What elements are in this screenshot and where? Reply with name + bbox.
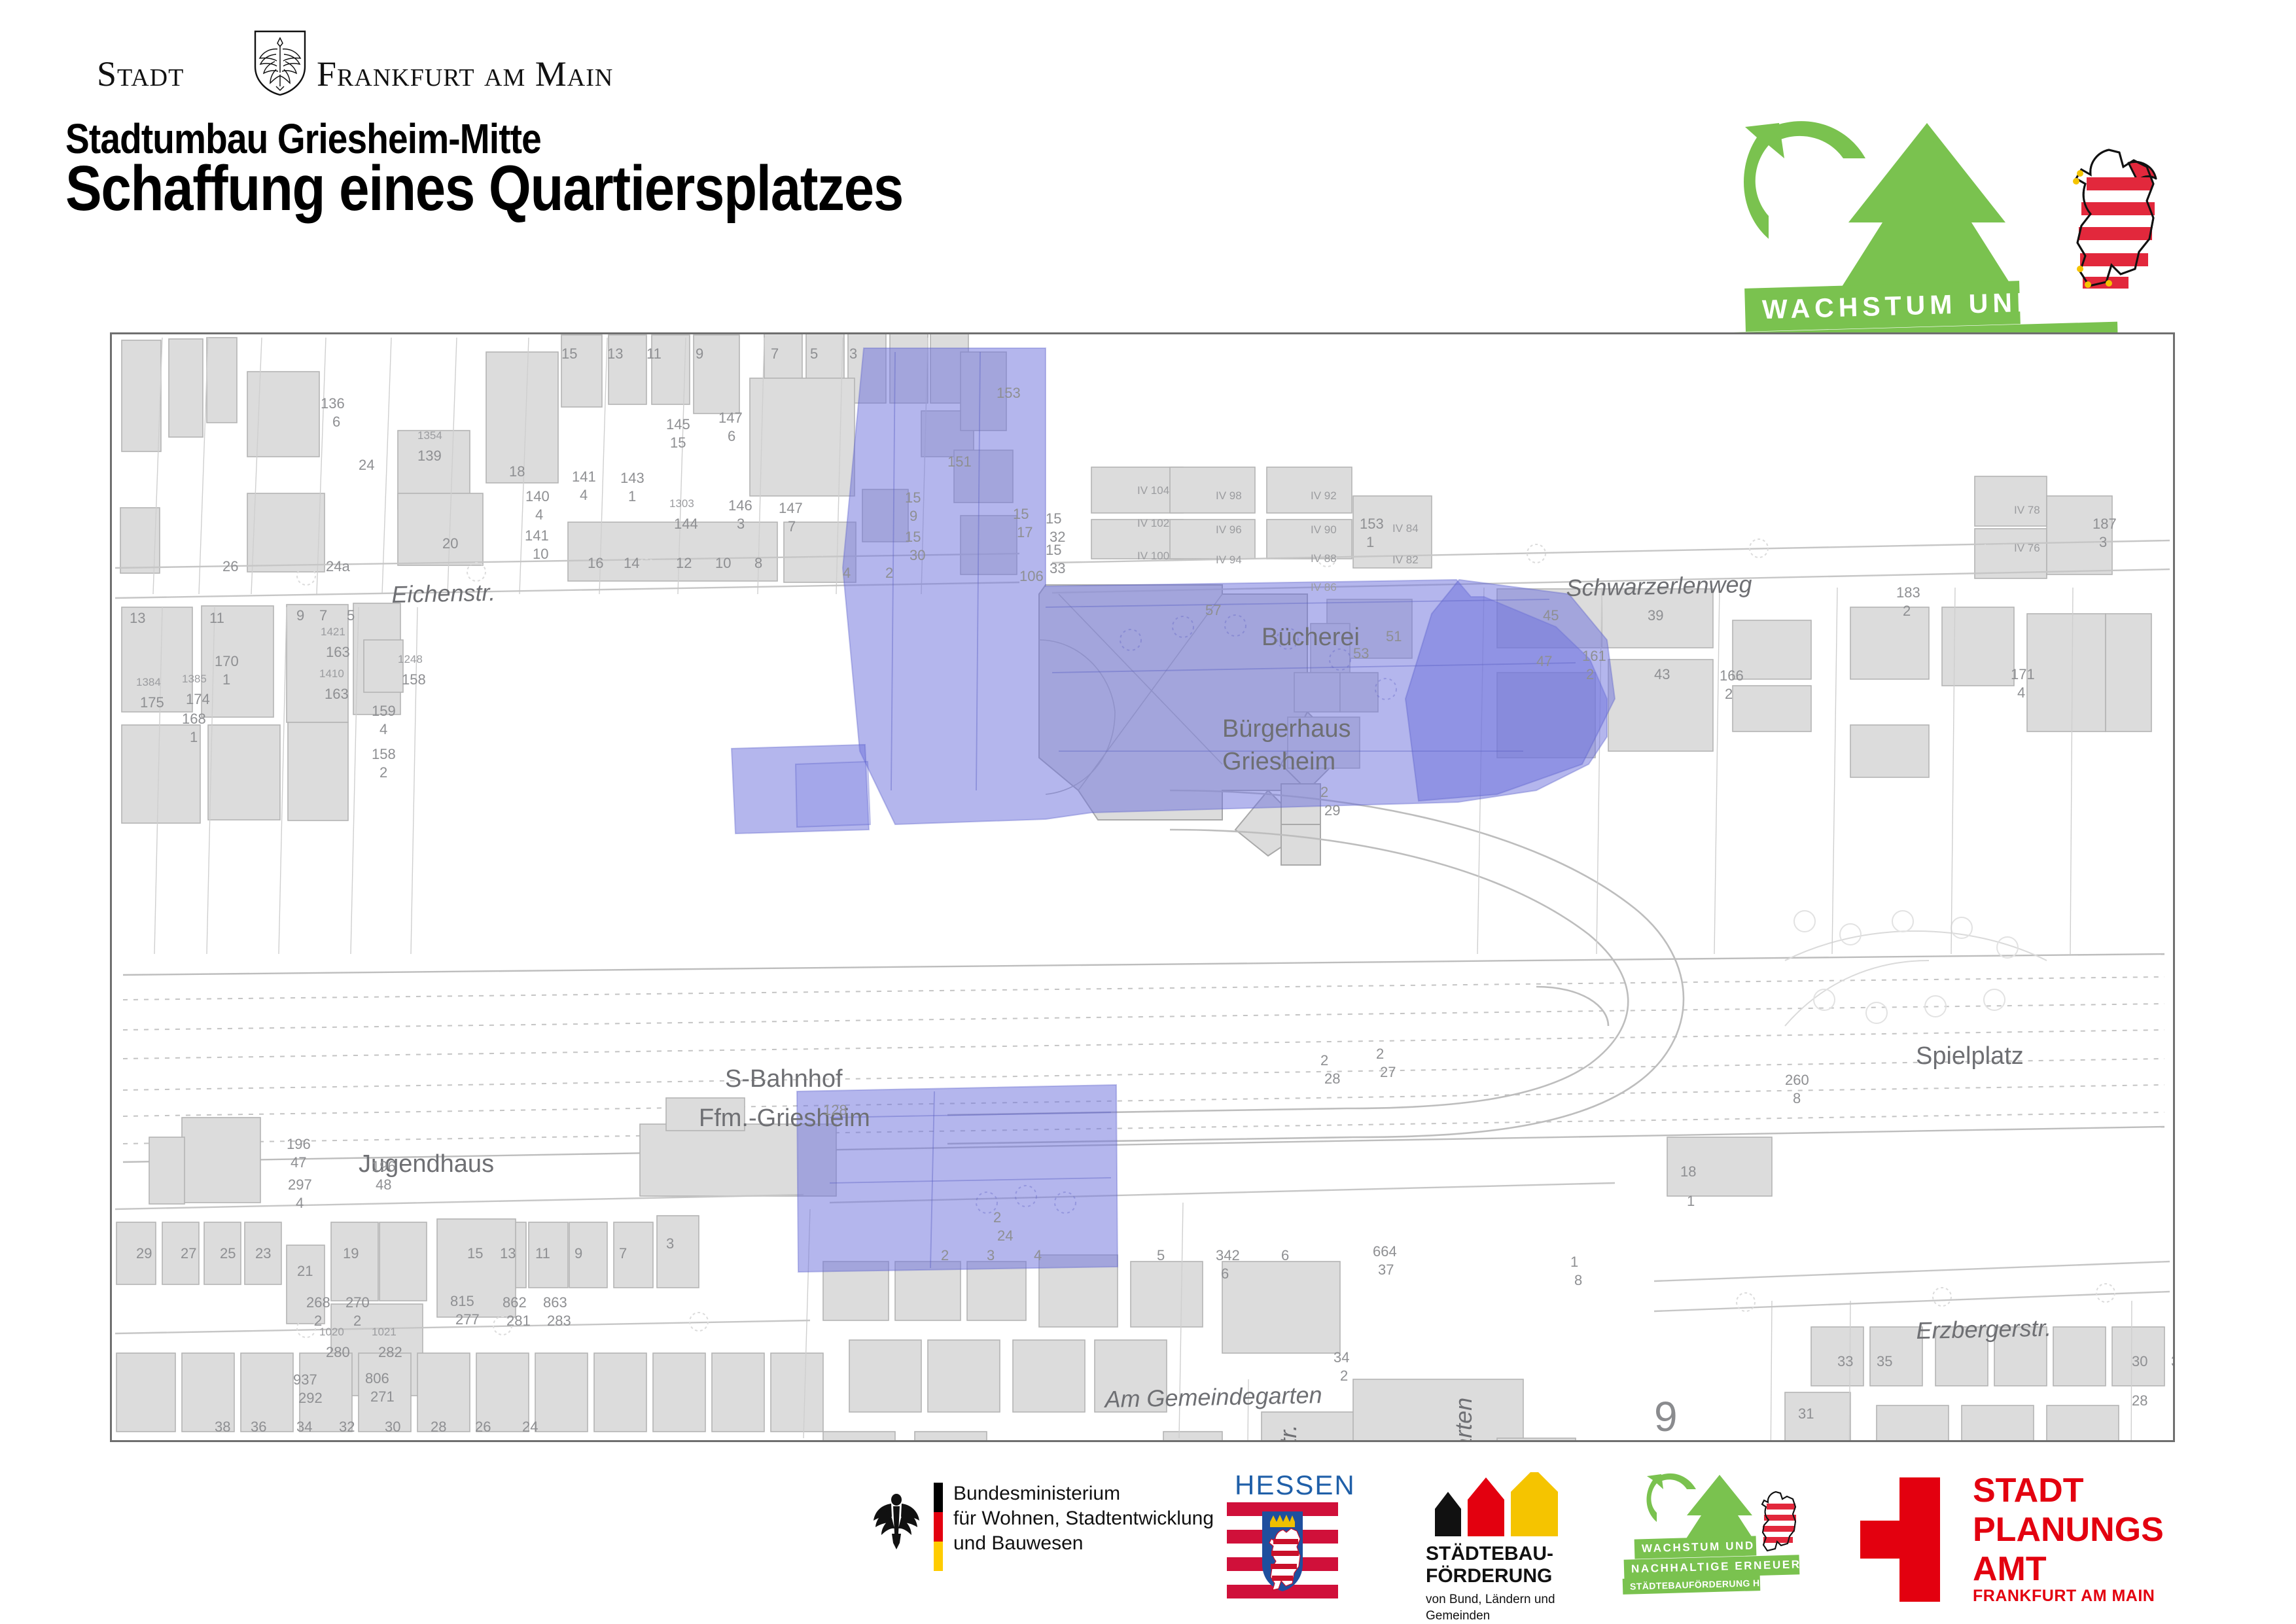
footer-logo-bar: Bundesministerium für Wohnen, Stadtentwi… (0, 1466, 2296, 1623)
stadtplanungsamt-logo: STADT PLANUNGS AMT FRANKFURT AM MAIN (1848, 1466, 2215, 1623)
bmwsb-line-3: und Bauwesen (953, 1531, 1214, 1556)
cadastral-map[interactable]: Eichenstr.SchwarzerlenwegErzbergerstr.Am… (110, 332, 2175, 1442)
bundesadler-icon (874, 1491, 919, 1549)
map-canvas: Eichenstr.SchwarzerlenwegErzbergerstr.Am… (110, 332, 2175, 1442)
staedtebaufoerderung-logo: STÄDTEBAU- FÖRDERUNG von Bund, Ländern u… (1397, 1466, 1659, 1623)
sf-line-4: Gemeinden (1426, 1608, 1555, 1624)
stadt-frankfurt-logo: Stadt Frankfurt am Main (97, 31, 516, 103)
spa-line-1: STADT (1973, 1471, 2164, 1510)
staedtebaufoerderung-title: STÄDTEBAU- FÖRDERUNG (1426, 1543, 1553, 1587)
city-logo-word-left: Stadt (97, 54, 184, 94)
wachstum-sm-line3: STÄDTEBAUFÖRDERUNG HESSEN (1623, 1575, 1761, 1595)
stadtplanungsamt-wordmark: STADT PLANUNGS AMT (1973, 1471, 2164, 1589)
bmwsb-line-1: Bundesministerium (953, 1481, 1214, 1506)
hessen-flag-icon (1227, 1502, 1338, 1600)
stadtplanungsamt-mark-icon (1848, 1477, 1953, 1602)
german-flag-bar-icon (934, 1483, 943, 1571)
map-vector-layer (110, 332, 2175, 1442)
bmwsb-text: Bundesministerium für Wohnen, Stadtentwi… (953, 1481, 1214, 1556)
page-title: Schaffung eines Quartiersplatzes (65, 152, 903, 225)
hessen-lion-shield-icon (1261, 1510, 1304, 1593)
sf-line-2: FÖRDERUNG (1426, 1565, 1553, 1587)
hessen-lion-icon (2051, 141, 2176, 298)
wachstum-sm-line1: WACHSTUM UND (1634, 1536, 1757, 1559)
recycle-arrow-tree-icon (1731, 118, 2071, 308)
hessen-logo: HESSEN (1227, 1466, 1345, 1623)
spa-line-4: FRANKFURT AM MAIN (1973, 1587, 2155, 1606)
city-logo-word-right: Frankfurt am Main (317, 54, 613, 94)
spa-line-2: PLANUNGS (1973, 1510, 2164, 1549)
hessen-lion-icon (1751, 1488, 1806, 1556)
wachstum-band-line1: WACHSTUM UND (1744, 281, 2021, 332)
staedtebaufoerderung-sub: von Bund, Ländern und Gemeinden (1426, 1591, 1555, 1624)
bmwsb-line-2: für Wohnen, Stadtentwicklung (953, 1506, 1214, 1531)
hessen-wordmark: HESSEN (1235, 1470, 1356, 1501)
sf-line-3: von Bund, Ländern und (1426, 1591, 1555, 1608)
bundesministerium-logo: Bundesministerium für Wohnen, Stadtentwi… (874, 1466, 1188, 1623)
page-header: Stadt Frankfurt am Main (0, 0, 2296, 314)
frankfurt-eagle-crest-icon (253, 29, 308, 97)
sf-line-1: STÄDTEBAU- (1426, 1543, 1553, 1565)
spa-line-3: AMT (1973, 1549, 2164, 1589)
three-houses-icon (1430, 1472, 1567, 1536)
